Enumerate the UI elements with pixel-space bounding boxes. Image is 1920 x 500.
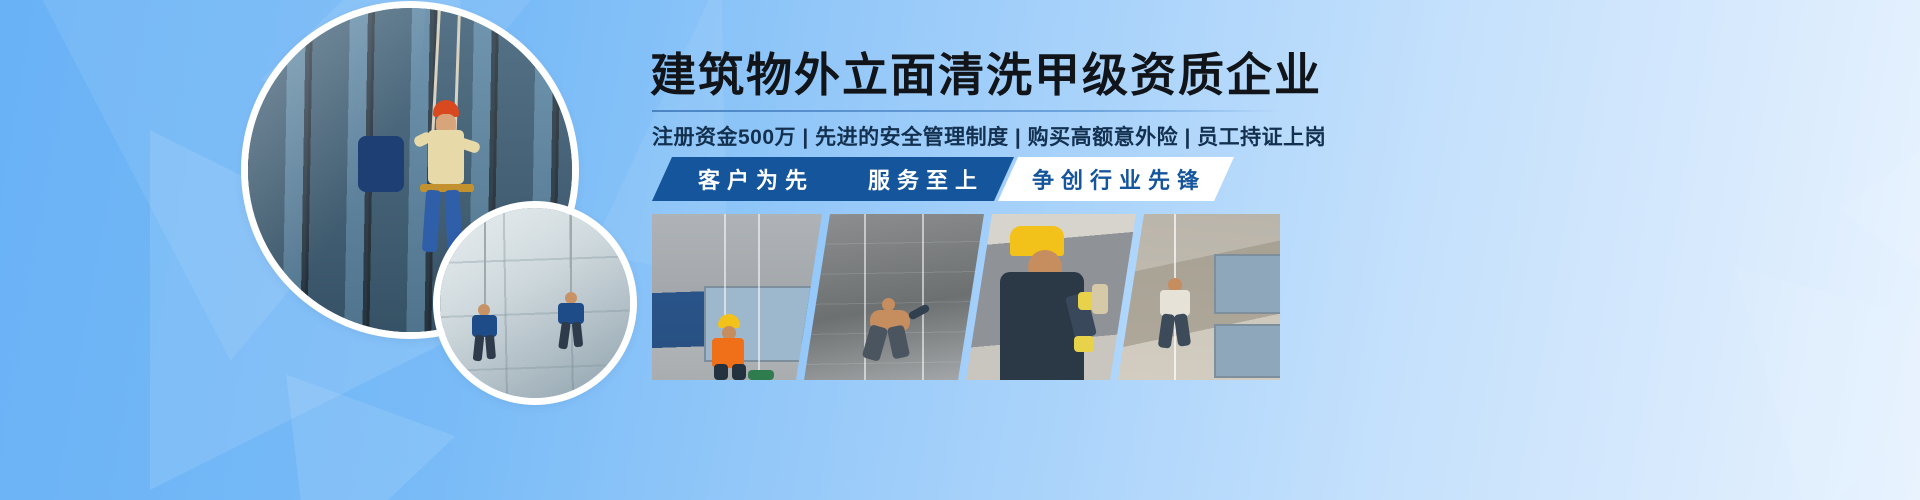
- worker-leg-strip-1: [714, 364, 728, 380]
- slogan-bar-highlight: 争创行业先锋: [998, 157, 1234, 201]
- slogan-bar: 客户为先 服务至上 争创行业先锋: [652, 157, 1234, 201]
- photo-strip-item-1: [652, 214, 822, 380]
- facade-worker-1-body: [472, 315, 497, 337]
- abseiler-torso-2: [1160, 290, 1190, 316]
- slogan-customer-first: 客户为先: [698, 163, 814, 195]
- photo-strip-item-4: [1118, 214, 1280, 380]
- light-facade-image: [440, 208, 630, 398]
- slogan-industry-pioneer: 争创行业先锋: [1032, 163, 1206, 195]
- trowel: [1092, 284, 1108, 314]
- water-bucket: [748, 370, 774, 380]
- page-title: 建筑物外立面清洗甲级资质企业: [650, 52, 1322, 98]
- worker-leg-strip-1b: [732, 364, 746, 380]
- facade-worker-2-body: [558, 303, 584, 324]
- credentials-text: 注册资金500万 | 先进的安全管理制度 | 购买高额意外险 | 员工持证上岗: [652, 121, 1326, 151]
- slogan-bar-primary: 客户为先 服务至上: [652, 157, 1014, 201]
- photo-strip: [652, 214, 1280, 380]
- balcony-window-2: [1214, 324, 1280, 378]
- balcony-window: [1214, 254, 1280, 314]
- yellow-glove-2: [1074, 336, 1094, 352]
- slogan-service-supreme: 服务至上: [868, 163, 984, 195]
- photo-strip-item-3: [966, 214, 1136, 380]
- equipment-bag: [358, 136, 404, 192]
- promo-banner: 建筑物外立面清洗甲级资质企业 注册资金500万 | 先进的安全管理制度 | 购买…: [0, 0, 1920, 500]
- rope-line-2: [758, 214, 760, 380]
- photo-strip-item-2: [804, 214, 984, 380]
- circle-photo-facade-workers: [440, 208, 630, 398]
- rope-line-4: [922, 214, 924, 380]
- title-underline: [652, 110, 1282, 112]
- worker-torso: [428, 130, 464, 184]
